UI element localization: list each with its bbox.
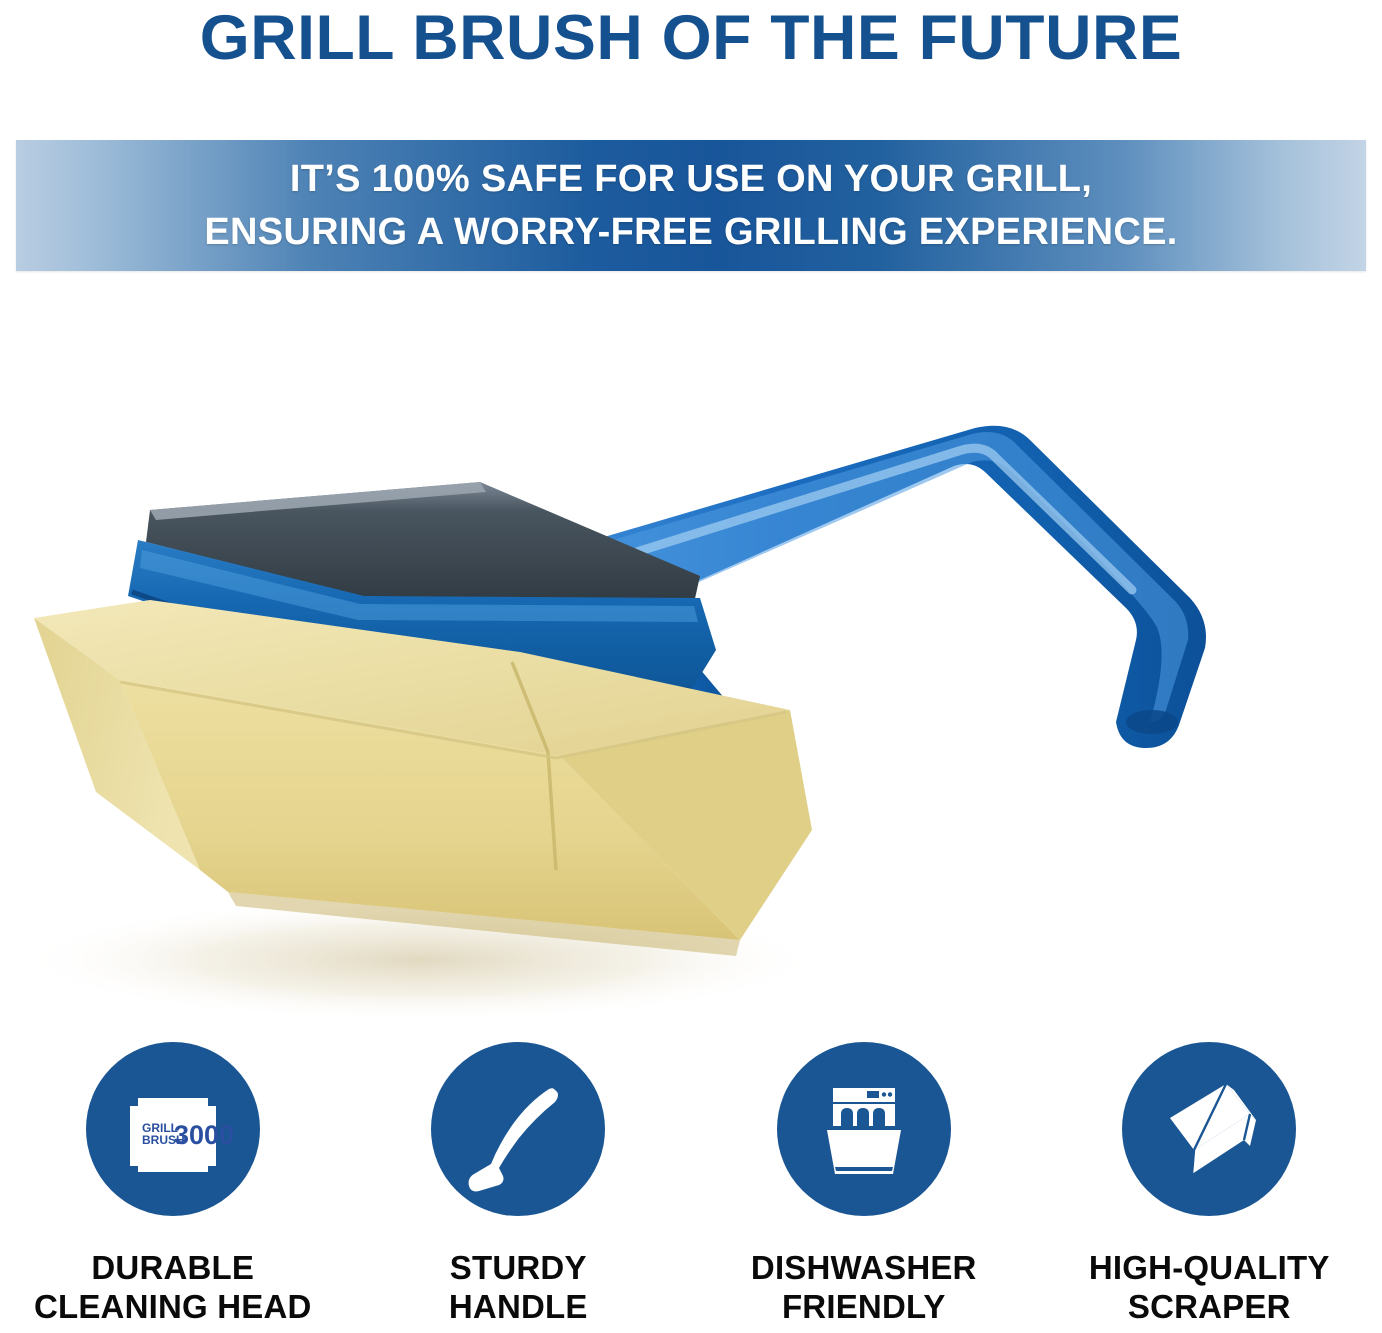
feature-item-handle[interactable]: STURDY HANDLE (346, 1035, 692, 1333)
dishwasher-badge (777, 1042, 951, 1216)
handle-tip-hole (1126, 710, 1178, 734)
caption-line-1: DURABLE (34, 1248, 312, 1287)
feature-item-scraper[interactable]: HIGH-QUALITY SCRAPER (1037, 1035, 1382, 1333)
product-photo-illustration (0, 400, 1382, 1020)
caption-line-2: FRIENDLY (751, 1287, 977, 1326)
caption-line-2: HANDLE (449, 1287, 588, 1326)
handle-badge (431, 1042, 605, 1216)
feature-item-dishwasher[interactable]: DISHWASHER FRIENDLY (691, 1035, 1037, 1333)
feature-caption-cleaning-head: DURABLE CLEANING HEAD (34, 1248, 312, 1326)
cleaning-head-badge: GRILL BRUSH 3000 (86, 1042, 260, 1216)
feature-item-cleaning-head[interactable]: GRILL BRUSH 3000 DURABLE CLEANING HEAD (0, 1035, 346, 1333)
tagline-banner: IT’S 100% SAFE FOR USE ON YOUR GRILL, EN… (16, 140, 1366, 271)
caption-line-2: CLEANING HEAD (34, 1287, 312, 1326)
product-photo (0, 400, 1382, 1020)
feature-caption-scraper: HIGH-QUALITY SCRAPER (1089, 1248, 1330, 1326)
feature-row: GRILL BRUSH 3000 DURABLE CLEANING HEAD S… (0, 1035, 1382, 1333)
page-title: GRILL BRUSH OF THE FUTURE (0, 2, 1382, 74)
scraper-blade-icon (1134, 1054, 1284, 1204)
caption-line-2: SCRAPER (1089, 1287, 1330, 1326)
scraper-badge (1122, 1042, 1296, 1216)
tagline-line-2: ENSURING A WORRY-FREE GRILLING EXPERIENC… (204, 206, 1177, 259)
caption-line-1: DISHWASHER (751, 1248, 977, 1287)
feature-caption-dishwasher: DISHWASHER FRIENDLY (751, 1248, 977, 1326)
caption-line-1: HIGH-QUALITY (1089, 1248, 1330, 1287)
caption-line-1: STURDY (449, 1248, 588, 1287)
cleaning-head-icon: GRILL BRUSH 3000 (98, 1054, 248, 1204)
feature-caption-handle: STURDY HANDLE (449, 1248, 588, 1326)
icon-label-model: 3000 (174, 1120, 234, 1150)
tagline-line-1: IT’S 100% SAFE FOR USE ON YOUR GRILL, (290, 153, 1092, 206)
brush-handle-icon (443, 1054, 593, 1204)
dishwasher-icon (789, 1054, 939, 1204)
